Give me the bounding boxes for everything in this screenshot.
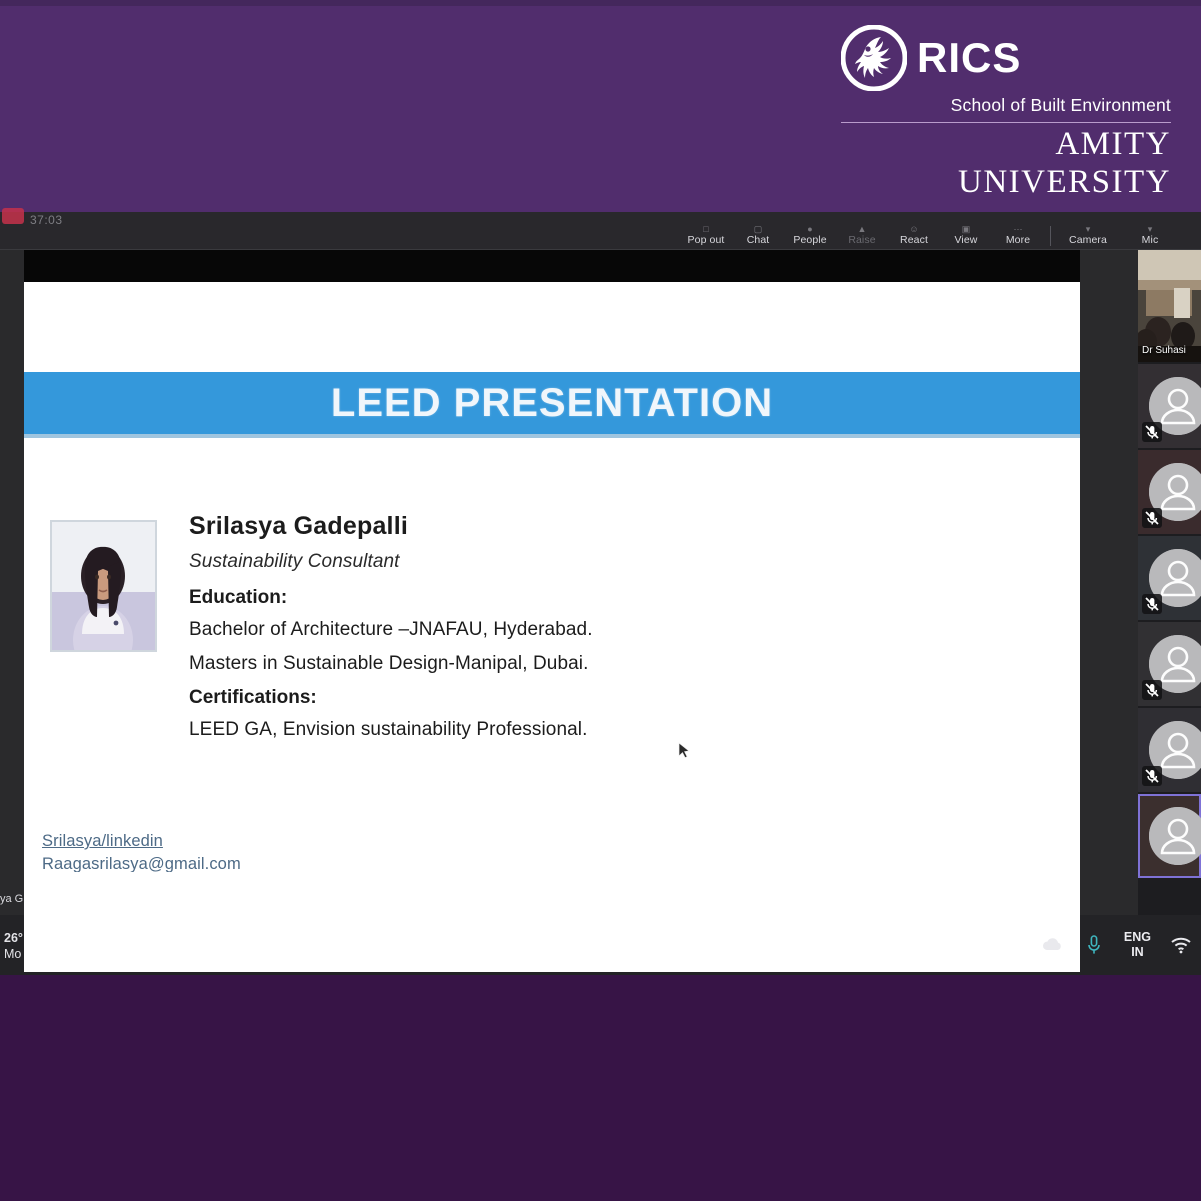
toolbar-button-mic[interactable]: ▾ Mic bbox=[1119, 234, 1181, 250]
slide-title: LEED PRESENTATION bbox=[24, 372, 1080, 434]
more-icon: ⋯ bbox=[1013, 224, 1022, 235]
mouse-cursor bbox=[678, 742, 691, 759]
toolbar-button-more[interactable]: ⋯ More bbox=[992, 234, 1044, 250]
contact-links: Srilasya/linkedin Raagasrilasya@gmail.co… bbox=[42, 830, 241, 876]
participant-rail[interactable]: Dr Suhasi bbox=[1138, 250, 1201, 915]
toolbar-separator bbox=[1050, 226, 1051, 246]
toolbar-button-popout[interactable]: □ Pop out bbox=[680, 234, 732, 250]
presenter-role: Sustainability Consultant bbox=[189, 551, 889, 573]
toolbar-label: Camera bbox=[1069, 234, 1107, 246]
toolbar-button-camera[interactable]: ▾ Camera bbox=[1057, 234, 1119, 250]
mic-muted-icon bbox=[1142, 422, 1162, 442]
toolbar-label: Raise bbox=[848, 234, 875, 246]
weather-temperature: 26° bbox=[4, 930, 23, 946]
screen: RICS School of Built Environment AMITY U… bbox=[0, 0, 1201, 1201]
slide-banner-shadow bbox=[24, 434, 1080, 438]
participant-tile[interactable] bbox=[1138, 364, 1201, 448]
toolbar-label: People bbox=[793, 234, 826, 246]
logo-org-subtitle: School of Built Environment bbox=[841, 94, 1171, 116]
participant-tile[interactable] bbox=[1138, 622, 1201, 706]
logo-org-name: RICS bbox=[917, 37, 1021, 79]
toolbar-items: □ Pop out ▢ Chat ● People ▲ Raise ☺ Reac… bbox=[680, 212, 1181, 250]
presenter-name: Srilasya Gadepalli bbox=[189, 512, 889, 541]
toolbar-label: React bbox=[900, 234, 928, 246]
education-heading: Education: bbox=[189, 587, 889, 609]
logo-university-name: AMITY UNIVERSITY bbox=[841, 125, 1171, 201]
language-code: ENG bbox=[1124, 930, 1151, 945]
certifications-heading: Certifications: bbox=[189, 687, 889, 709]
chat-icon: ▢ bbox=[754, 224, 763, 235]
toolbar-label: Mic bbox=[1142, 234, 1159, 246]
toolbar-button-people[interactable]: ● People bbox=[784, 234, 836, 250]
participant-tile[interactable] bbox=[1138, 708, 1201, 792]
shared-slide[interactable]: LEED PRESENTATION Srilasya Gadepalli Sus… bbox=[24, 282, 1080, 972]
language-region: IN bbox=[1124, 945, 1151, 960]
toolbar-label: Pop out bbox=[688, 234, 725, 246]
education-line: Bachelor of Architecture –JNAFAU, Hydera… bbox=[189, 619, 889, 641]
cloud-icon[interactable] bbox=[1040, 933, 1064, 957]
pop-out-icon: □ bbox=[703, 224, 709, 234]
participant-name: Dr Suhasi bbox=[1142, 345, 1186, 356]
rics-lion-logo-icon bbox=[841, 25, 907, 91]
backdrop-bottom bbox=[0, 975, 1201, 1201]
mic-muted-icon bbox=[1142, 594, 1162, 614]
people-icon: ● bbox=[807, 224, 813, 234]
taskbar-weather-widget[interactable]: 26° Mo bbox=[4, 930, 23, 962]
participant-tile-active-speaker[interactable] bbox=[1138, 794, 1201, 878]
raise-hand-icon: ▲ bbox=[857, 224, 866, 234]
backdrop-top-strip bbox=[0, 0, 1201, 6]
weather-description: Mo bbox=[4, 946, 23, 962]
linkedin-link[interactable]: Srilasya/linkedin bbox=[42, 830, 241, 853]
logo-divider bbox=[841, 122, 1171, 123]
microphone-icon[interactable] bbox=[1082, 933, 1106, 957]
view-icon: ▣ bbox=[962, 224, 971, 235]
logo-text: RICS bbox=[917, 37, 1021, 79]
taskbar-system-tray: ENG IN bbox=[1040, 915, 1201, 975]
react-icon: ☺ bbox=[909, 224, 918, 234]
mic-muted-icon bbox=[1142, 766, 1162, 786]
toolbar-label: Chat bbox=[747, 234, 770, 246]
participant-tile[interactable]: Dr Suhasi bbox=[1138, 250, 1201, 362]
rics-amity-logo: RICS School of Built Environment AMITY U… bbox=[841, 24, 1171, 152]
toolbar-label: View bbox=[955, 234, 978, 246]
participant-tile[interactable] bbox=[1138, 450, 1201, 534]
chevron-down-icon: ▾ bbox=[1148, 224, 1153, 235]
recording-timer: 37:03 bbox=[30, 213, 63, 227]
education-line: Masters in Sustainable Design-Manipal, D… bbox=[189, 653, 889, 675]
toolbar-button-react[interactable]: ☺ React bbox=[888, 234, 940, 250]
presenter-photo bbox=[50, 520, 157, 652]
taskbar-app-label[interactable]: ya G bbox=[0, 893, 23, 905]
toolbar-button-raise[interactable]: ▲ Raise bbox=[836, 234, 888, 250]
toolbar-label: More bbox=[1006, 234, 1030, 246]
participant-tile[interactable] bbox=[1138, 536, 1201, 620]
logo-row: RICS bbox=[841, 24, 1171, 92]
presenter-bio: Srilasya Gadepalli Sustainability Consul… bbox=[189, 512, 889, 753]
chevron-down-icon: ▾ bbox=[1086, 224, 1091, 235]
language-indicator[interactable]: ENG IN bbox=[1124, 930, 1151, 960]
toolbar-button-view[interactable]: ▣ View bbox=[940, 234, 992, 250]
certifications-line: LEED GA, Envision sustainability Profess… bbox=[189, 719, 889, 741]
mic-muted-icon bbox=[1142, 508, 1162, 528]
avatar bbox=[1149, 807, 1201, 865]
share-letterbox bbox=[24, 250, 1080, 282]
recording-indicator-icon bbox=[2, 208, 24, 224]
slide-bottom-white-2 bbox=[62, 880, 1080, 972]
toolbar-button-chat[interactable]: ▢ Chat bbox=[732, 234, 784, 250]
mic-muted-icon bbox=[1142, 680, 1162, 700]
wifi-icon[interactable] bbox=[1169, 933, 1193, 957]
